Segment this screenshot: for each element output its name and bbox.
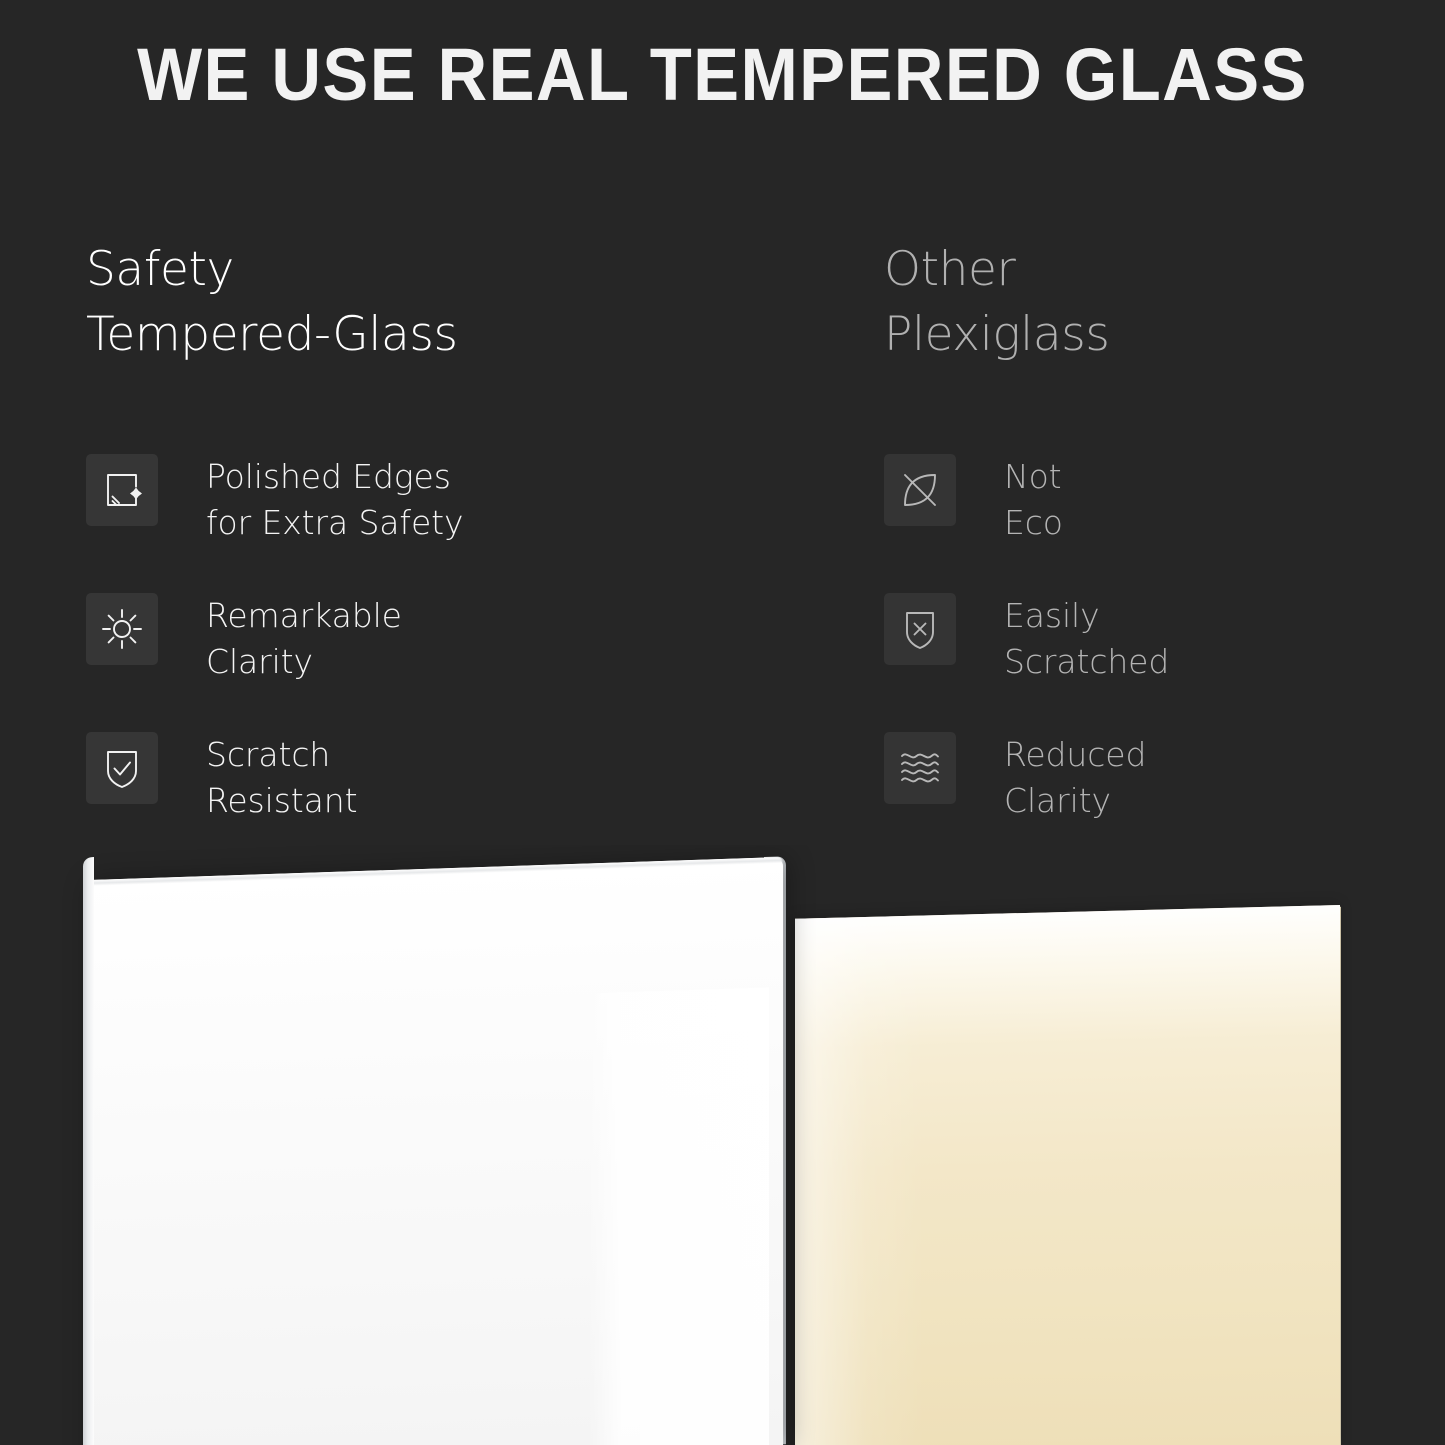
shield-check-icon xyxy=(86,732,158,804)
polished-panel-sparkle-icon xyxy=(86,454,158,526)
feature-row-polished-edges: Polished Edges for Extra Safety xyxy=(86,450,463,589)
wavy-lines-icon xyxy=(884,732,956,804)
feature-label-remarkable-clarity: Remarkable Clarity xyxy=(206,589,402,684)
glass-panel-comparison-image xyxy=(0,845,1445,1445)
feature-label-easily-scratched: Easily Scratched xyxy=(1004,589,1169,684)
infographic-root: WE USE REAL TEMPERED GLASS Safety Temper… xyxy=(0,0,1445,1445)
shield-x-icon xyxy=(884,593,956,665)
feature-label-polished-edges: Polished Edges for Extra Safety xyxy=(206,450,463,545)
column-plexiglass: Other Plexiglass Not Eco xyxy=(884,238,1404,368)
column-heading-plexiglass: Other Plexiglass xyxy=(884,238,1404,368)
cream-plexiglass-sheet xyxy=(795,905,1340,1445)
page-title: WE USE REAL TEMPERED GLASS xyxy=(51,38,1395,112)
feature-list-tempered-glass: Polished Edges for Extra Safety Remarkab… xyxy=(86,450,463,867)
column-tempered-glass: Safety Tempered-Glass Polished Edges for… xyxy=(86,238,806,368)
feature-label-scratch-resistant: Scratch Resistant xyxy=(206,728,357,823)
feature-row-not-eco: Not Eco xyxy=(884,450,1169,589)
feature-row-easily-scratched: Easily Scratched xyxy=(884,589,1169,728)
leaf-crossed-out-icon xyxy=(884,454,956,526)
feature-row-remarkable-clarity: Remarkable Clarity xyxy=(86,589,463,728)
feature-list-plexiglass: Not Eco Easily Scratched xyxy=(884,450,1169,867)
tempered-glass-left-polished-edge xyxy=(83,857,94,1445)
feature-label-not-eco: Not Eco xyxy=(1004,450,1063,545)
feature-label-reduced-clarity: Reduced Clarity xyxy=(1004,728,1146,823)
column-heading-tempered-glass: Safety Tempered-Glass xyxy=(86,238,806,368)
white-tempered-glass-sheet xyxy=(83,857,783,1445)
sun-brightness-icon xyxy=(86,593,158,665)
